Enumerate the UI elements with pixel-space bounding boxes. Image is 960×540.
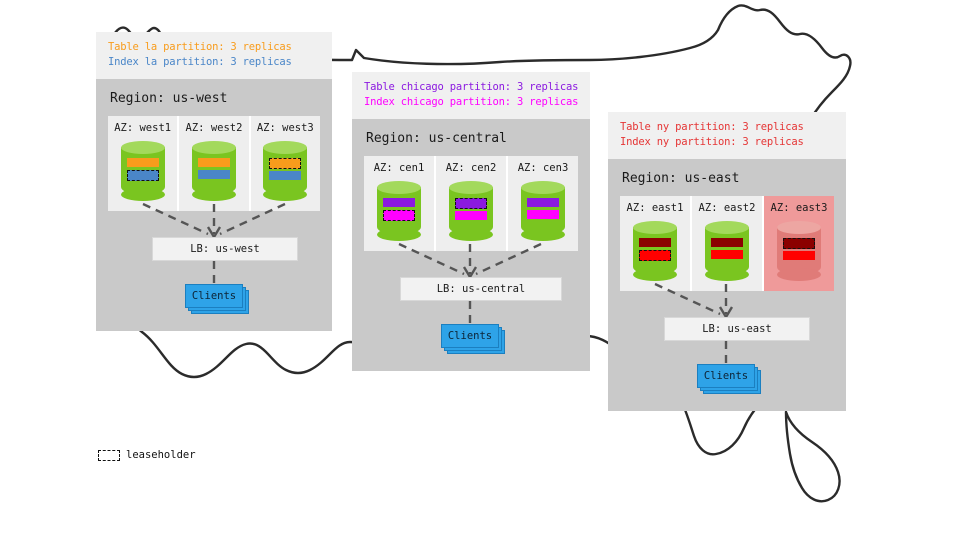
index-ny-replica bbox=[711, 250, 743, 259]
az-cen2[interactable]: AZ: cen2 bbox=[436, 156, 506, 251]
dashed-rectangle-icon bbox=[98, 450, 120, 461]
load-balancer-us-central[interactable]: LB: us-central bbox=[400, 277, 562, 301]
table-la-replica-leaseholder bbox=[269, 158, 301, 169]
cylinder-bottom bbox=[777, 268, 821, 281]
node-cylinder[interactable] bbox=[263, 141, 307, 201]
node-cylinder[interactable] bbox=[449, 181, 493, 241]
cylinder-top bbox=[192, 141, 236, 154]
clients-card-front[interactable]: Clients bbox=[185, 284, 243, 308]
partition-legend-line-index: Index chicago partition: 3 replicas bbox=[364, 95, 580, 110]
table-chicago-replica bbox=[527, 198, 559, 207]
cylinder-top bbox=[777, 221, 821, 234]
az-label: AZ: west2 bbox=[179, 122, 248, 134]
region-title: Region: us-central bbox=[366, 131, 578, 146]
cylinder-top bbox=[121, 141, 165, 154]
node-cylinder[interactable] bbox=[377, 181, 421, 241]
cylinder-bottom bbox=[192, 188, 236, 201]
az-west1[interactable]: AZ: west1 bbox=[108, 116, 177, 211]
leaseholder-legend: leaseholder bbox=[98, 449, 196, 461]
index-ny-replica bbox=[783, 251, 815, 260]
region-title: Region: us-west bbox=[110, 91, 320, 106]
clients-label: Clients bbox=[448, 330, 492, 342]
region-title: Region: us-east bbox=[622, 171, 834, 186]
region-body-us-west: Region: us-west AZ: west1 AZ bbox=[96, 79, 332, 331]
replica-bands bbox=[455, 198, 487, 223]
region-cluster-us-west: Table la partition: 3 replicas Index la … bbox=[96, 32, 332, 331]
az-east2[interactable]: AZ: east2 bbox=[692, 196, 762, 291]
index-la-replica bbox=[198, 170, 230, 179]
clients-label: Clients bbox=[192, 290, 236, 302]
partition-legend-us-central: Table chicago partition: 3 replicas Inde… bbox=[352, 72, 590, 119]
replica-bands bbox=[127, 158, 159, 183]
table-chicago-replica bbox=[383, 198, 415, 207]
az-label: AZ: west1 bbox=[108, 122, 177, 134]
load-balancer-us-east[interactable]: LB: us-east bbox=[664, 317, 810, 341]
cylinder-top bbox=[263, 141, 307, 154]
cylinder-bottom bbox=[633, 268, 677, 281]
clients-stack-us-central[interactable]: Clients bbox=[441, 324, 499, 348]
cylinder-bottom bbox=[705, 268, 749, 281]
load-balancer-us-west[interactable]: LB: us-west bbox=[152, 237, 298, 261]
az-label: AZ: east3 bbox=[764, 202, 834, 214]
table-ny-replica bbox=[639, 238, 671, 247]
az-west2[interactable]: AZ: west2 bbox=[179, 116, 248, 211]
lb-arrow-head bbox=[208, 227, 220, 237]
cylinder-bottom bbox=[449, 228, 493, 241]
index-la-replica-leaseholder bbox=[127, 170, 159, 181]
table-chicago-replica-leaseholder bbox=[455, 198, 487, 209]
replica-bands bbox=[527, 198, 559, 222]
az-row: AZ: cen1 AZ: cen2 bbox=[364, 156, 578, 251]
replica-bands bbox=[711, 238, 743, 262]
az-label: AZ: east1 bbox=[620, 202, 690, 214]
partition-legend-us-west: Table la partition: 3 replicas Index la … bbox=[96, 32, 332, 79]
lb-arrow-head bbox=[464, 267, 476, 277]
az-row: AZ: west1 AZ: west2 bbox=[108, 116, 320, 211]
index-chicago-replica bbox=[527, 210, 559, 219]
az-label: AZ: west3 bbox=[251, 122, 320, 134]
index-ny-replica-leaseholder bbox=[639, 250, 671, 261]
clients-card-front[interactable]: Clients bbox=[697, 364, 755, 388]
node-cylinder[interactable] bbox=[121, 141, 165, 201]
cylinder-top bbox=[449, 181, 493, 194]
cylinder-top bbox=[705, 221, 749, 234]
table-la-replica bbox=[198, 158, 230, 167]
partition-legend-line-index: Index la partition: 3 replicas bbox=[108, 55, 322, 70]
region-body-us-central: Region: us-central AZ: cen1 bbox=[352, 119, 590, 371]
clients-label: Clients bbox=[704, 370, 748, 382]
region-body-us-east: Region: us-east AZ: east1 AZ bbox=[608, 159, 846, 411]
replica-bands bbox=[639, 238, 671, 263]
az-label: AZ: cen1 bbox=[364, 162, 434, 174]
region-cluster-us-central: Table chicago partition: 3 replicas Inde… bbox=[352, 72, 590, 371]
az-label: AZ: cen2 bbox=[436, 162, 506, 174]
clients-stack-us-west[interactable]: Clients bbox=[185, 284, 243, 308]
table-la-replica bbox=[127, 158, 159, 167]
clients-stack-us-east[interactable]: Clients bbox=[697, 364, 755, 388]
cylinder-bottom bbox=[121, 188, 165, 201]
florida-outline bbox=[786, 412, 840, 501]
az-east1[interactable]: AZ: east1 bbox=[620, 196, 690, 291]
node-cylinder[interactable] bbox=[705, 221, 749, 281]
partition-legend-line-table: Table ny partition: 3 replicas bbox=[620, 120, 836, 135]
az-label: AZ: cen3 bbox=[508, 162, 578, 174]
index-chicago-replica bbox=[455, 211, 487, 220]
replica-bands bbox=[783, 238, 815, 263]
cylinder-top bbox=[633, 221, 677, 234]
index-la-replica bbox=[269, 171, 301, 180]
index-chicago-replica-leaseholder bbox=[383, 210, 415, 221]
leaseholder-legend-label: leaseholder bbox=[126, 449, 196, 461]
az-cen3[interactable]: AZ: cen3 bbox=[508, 156, 578, 251]
az-row: AZ: east1 AZ: east2 bbox=[620, 196, 834, 291]
cylinder-top bbox=[521, 181, 565, 194]
replica-bands bbox=[269, 158, 301, 183]
replica-bands bbox=[198, 158, 230, 182]
partition-legend-line-table: Table la partition: 3 replicas bbox=[108, 40, 322, 55]
cylinder-bottom bbox=[377, 228, 421, 241]
lb-arrow-head bbox=[720, 307, 732, 317]
cylinder-top bbox=[377, 181, 421, 194]
node-cylinder[interactable] bbox=[521, 181, 565, 241]
az-east3-failed[interactable]: AZ: east3 bbox=[764, 196, 834, 291]
region-cluster-us-east: Table ny partition: 3 replicas Index ny … bbox=[608, 112, 846, 411]
node-cylinder[interactable] bbox=[192, 141, 236, 201]
node-cylinder[interactable] bbox=[633, 221, 677, 281]
table-ny-replica bbox=[711, 238, 743, 247]
table-ny-replica-leaseholder bbox=[783, 238, 815, 249]
diagram-canvas: Table la partition: 3 replicas Index la … bbox=[0, 0, 960, 540]
az-west3[interactable]: AZ: west3 bbox=[251, 116, 320, 211]
partition-legend-us-east: Table ny partition: 3 replicas Index ny … bbox=[608, 112, 846, 159]
partition-legend-line-table: Table chicago partition: 3 replicas bbox=[364, 80, 580, 95]
replica-bands bbox=[383, 198, 415, 223]
az-cen1[interactable]: AZ: cen1 bbox=[364, 156, 434, 251]
az-label: AZ: east2 bbox=[692, 202, 762, 214]
cylinder-bottom bbox=[521, 228, 565, 241]
clients-card-front[interactable]: Clients bbox=[441, 324, 499, 348]
node-cylinder-unavailable[interactable] bbox=[777, 221, 821, 281]
cylinder-bottom bbox=[263, 188, 307, 201]
partition-legend-line-index: Index ny partition: 3 replicas bbox=[620, 135, 836, 150]
